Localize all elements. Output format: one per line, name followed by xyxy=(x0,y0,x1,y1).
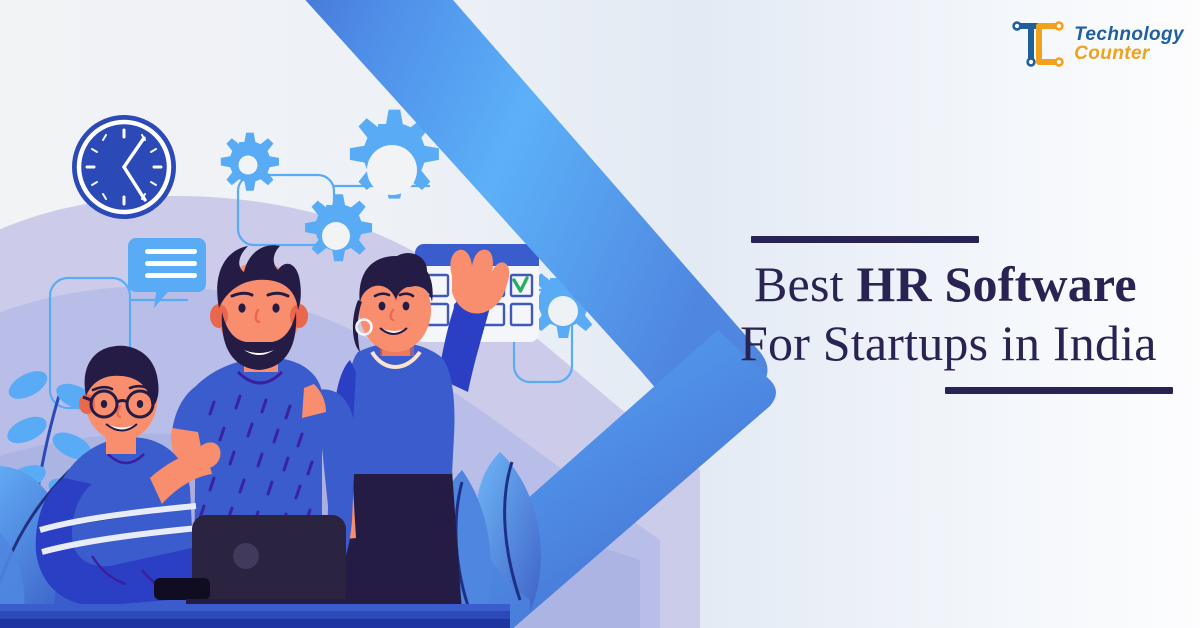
headline-line2: For Startups in India xyxy=(740,314,1190,373)
logo-word-counter: Counter xyxy=(1074,44,1184,63)
brand-logo[interactable]: Technology Counter xyxy=(1009,18,1184,70)
logo-word-technology: Technology xyxy=(1074,25,1184,44)
headline-rule-bottom xyxy=(945,387,1173,394)
desk-bar xyxy=(0,604,510,628)
headline-rule-top xyxy=(751,236,979,243)
headline-line1-plain: Best xyxy=(754,256,856,312)
page-title: Best HR Software For Startups in India xyxy=(740,255,1190,373)
wall-clock xyxy=(72,115,176,219)
gear-medium xyxy=(305,194,372,261)
hero-banner: Best HR Software For Startups in India xyxy=(0,0,1200,628)
logo-mark-tc-icon xyxy=(1009,18,1065,70)
gear-small xyxy=(221,133,279,191)
logo-wordmark: Technology Counter xyxy=(1074,25,1184,64)
headline-line1-bold: HR Software xyxy=(856,256,1136,312)
headline-block: Best HR Software For Startups in India xyxy=(740,236,1190,394)
